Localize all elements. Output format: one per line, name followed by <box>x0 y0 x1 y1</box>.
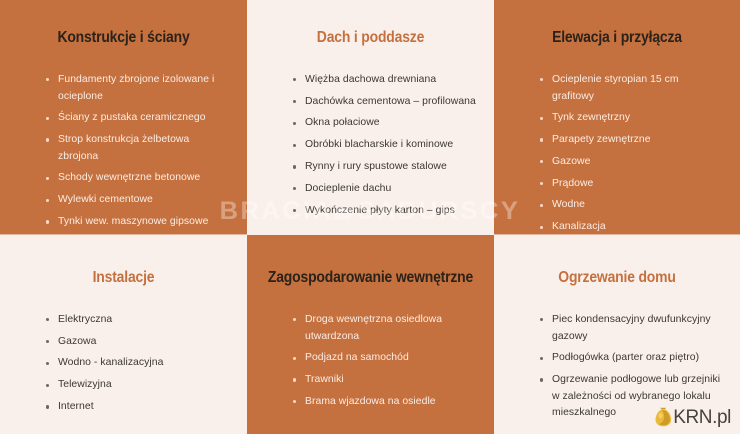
list-item: Strop konstrukcja żelbetowa zbrojona <box>46 132 229 165</box>
money-bag-icon <box>655 407 672 427</box>
feature-list-zagospodarowanie-wewnetrzne: Droga wewnętrzna osiedlowa utwardzonaPod… <box>247 312 494 411</box>
panel-dach-i-poddasze: Dach i poddaszeWiężba dachowa drewnianaD… <box>247 0 494 235</box>
list-item: Obróbki blacharskie i kominowe <box>293 137 476 154</box>
list-item: Kanalizacja <box>540 219 722 235</box>
list-item: Wodne <box>540 197 722 214</box>
list-item: Okna połaciowe <box>293 115 476 132</box>
list-item: Rynny i rury spustowe stalowe <box>293 159 476 176</box>
krn-logo[interactable]: KRN.pl <box>655 407 731 427</box>
panel-instalacje: InstalacjeElektrycznaGazowaWodno - kanal… <box>0 235 247 434</box>
list-item: Fundamenty zbrojone izolowane i ocieplon… <box>46 72 229 105</box>
list-item: Schody wewnętrzne betonowe <box>46 170 229 187</box>
panel-konstrukcje-i-sciany: Konstrukcje i ścianyFundamenty zbrojone … <box>0 0 247 235</box>
list-item: Wykończenie płyty karton – gips <box>293 203 476 220</box>
list-item: Piec kondensacyjny dwufunkcyjny gazowy <box>540 312 722 345</box>
list-item: Ściany z pustaka ceramicznego <box>46 110 229 127</box>
panel-title-konstrukcje-i-sciany: Konstrukcje i ściany <box>12 29 234 48</box>
feature-list-dach-i-poddasze: Więżba dachowa drewnianaDachówka cemento… <box>247 72 494 219</box>
list-item: Wodno - kanalizacyjna <box>46 355 229 372</box>
feature-list-konstrukcje-i-sciany: Fundamenty zbrojone izolowane i ocieplon… <box>0 72 247 235</box>
list-item: Więżba dachowa drewniana <box>293 72 476 89</box>
list-item: Trawniki <box>293 372 476 389</box>
panel-elewacja-i-przylacza: Elewacja i przyłączaOcieplenie styropian… <box>494 0 740 235</box>
features-grid: Konstrukcje i ścianyFundamenty zbrojone … <box>0 0 740 434</box>
list-item: Podłogówka (parter oraz piętro) <box>540 350 722 367</box>
list-item: Telewizyjna <box>46 377 229 394</box>
list-item: Dachówka cementowa – profilowana <box>293 94 476 111</box>
feature-list-elewacja-i-przylacza: Ocieplenie styropian 15 cm grafitowyTynk… <box>494 72 740 235</box>
feature-list-instalacje: ElektrycznaGazowaWodno - kanalizacyjnaTe… <box>0 312 247 416</box>
list-item: Internet <box>46 399 229 416</box>
list-item: Ocieplenie styropian 15 cm grafitowy <box>540 72 722 105</box>
list-item: Docieplenie dachu <box>293 181 476 198</box>
list-item: Elektryczna <box>46 312 229 329</box>
list-item: Prądowe <box>540 176 722 193</box>
list-item: Tynki wew. maszynowe gipsowe <box>46 214 229 231</box>
panel-title-instalacje: Instalacje <box>12 269 234 288</box>
krn-logo-text: KRN.pl <box>673 408 731 427</box>
panel-title-zagospodarowanie-wewnetrzne: Zagospodarowanie wewnętrzne <box>259 269 481 288</box>
panel-title-ogrzewanie-domu: Ogrzewanie domu <box>506 269 727 288</box>
feature-list-ogrzewanie-domu: Piec kondensacyjny dwufunkcyjny gazowyPo… <box>494 312 740 422</box>
panel-ogrzewanie-domu: Ogrzewanie domuPiec kondensacyjny dwufun… <box>494 235 740 434</box>
panel-title-dach-i-poddasze: Dach i poddasze <box>259 29 481 48</box>
panel-title-elewacja-i-przylacza: Elewacja i przyłącza <box>506 29 727 48</box>
list-item: Wylewki cementowe <box>46 192 229 209</box>
list-item: Gazowe <box>540 154 722 171</box>
list-item: Brama wjazdowa na osiedle <box>293 394 476 411</box>
list-item: Droga wewnętrzna osiedlowa utwardzona <box>293 312 476 345</box>
panel-zagospodarowanie-wewnetrzne: Zagospodarowanie wewnętrzneDroga wewnętr… <box>247 235 494 434</box>
list-item: Parapety zewnętrzne <box>540 132 722 149</box>
list-item: Gazowa <box>46 334 229 351</box>
list-item: Tynk zewnętrzny <box>540 110 722 127</box>
list-item: Podjazd na samochód <box>293 350 476 367</box>
